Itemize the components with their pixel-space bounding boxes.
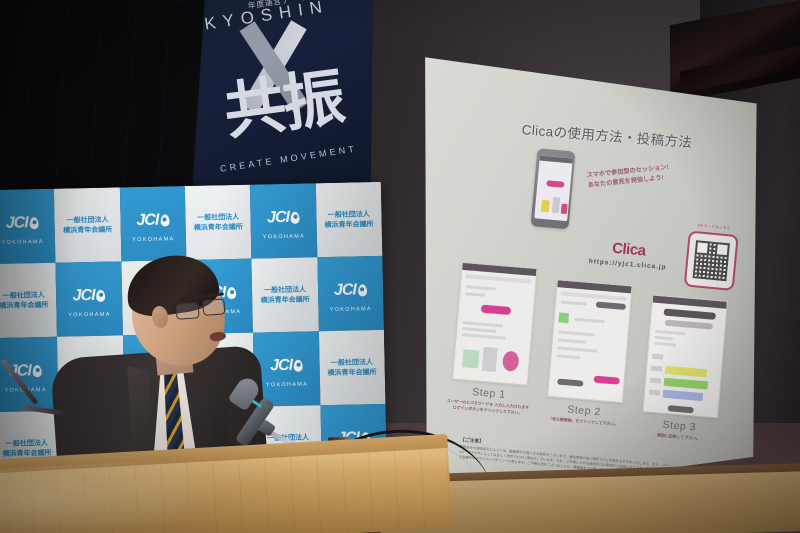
- step-1-screenshot: [452, 262, 538, 386]
- slide-tagline: スマホで参加型のセッション! あなたの意見を発信しよう!: [586, 159, 707, 190]
- banner-kanji-title: 共振: [205, 66, 361, 144]
- eyeglasses-icon: [175, 298, 228, 322]
- step-item: Step 1 ユーザーIDとパスワードを 入力し入力されます ログインボタンをク…: [445, 261, 541, 416]
- presentation-scene: Clicaの使用方法・投稿方法 スマホで参加型のセッション! あなたの意見を発信…: [0, 0, 800, 533]
- slide-title: Clicaの使用方法・投稿方法: [487, 116, 728, 154]
- secondary-microphone-arm: [0, 352, 60, 472]
- step-2-screenshot: [547, 279, 633, 403]
- phone-mockup: [531, 148, 576, 229]
- step-item: Step 3 質問に回答して下さい。: [636, 294, 732, 443]
- projection-screen: Clicaの使用方法・投稿方法 スマホで参加型のセッション! あなたの意見を発信…: [420, 48, 760, 510]
- speaker-mouth: [209, 331, 226, 343]
- step-3-screenshot: [642, 294, 728, 418]
- slide-content: Clicaの使用方法・投稿方法 スマホで参加型のセッション! あなたの意見を発信…: [417, 57, 762, 498]
- step-item: Step 2 「非公開情報」をクリックして下さい。: [541, 279, 637, 428]
- clica-logo: Clica: [612, 240, 647, 260]
- steps-row: Step 1 ユーザーIDとパスワードを 入力し入力されます ログインボタンをク…: [442, 254, 738, 460]
